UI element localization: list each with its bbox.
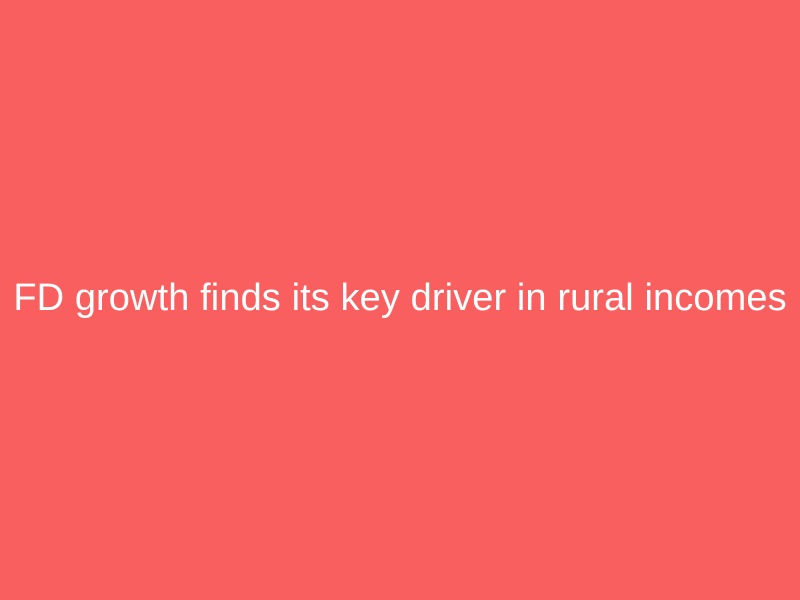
placeholder-card: FD growth finds its key driver in rural … — [0, 0, 800, 600]
headline-container: FD growth finds its key driver in rural … — [0, 272, 800, 324]
page-title: FD growth finds its key driver in rural … — [13, 274, 786, 322]
